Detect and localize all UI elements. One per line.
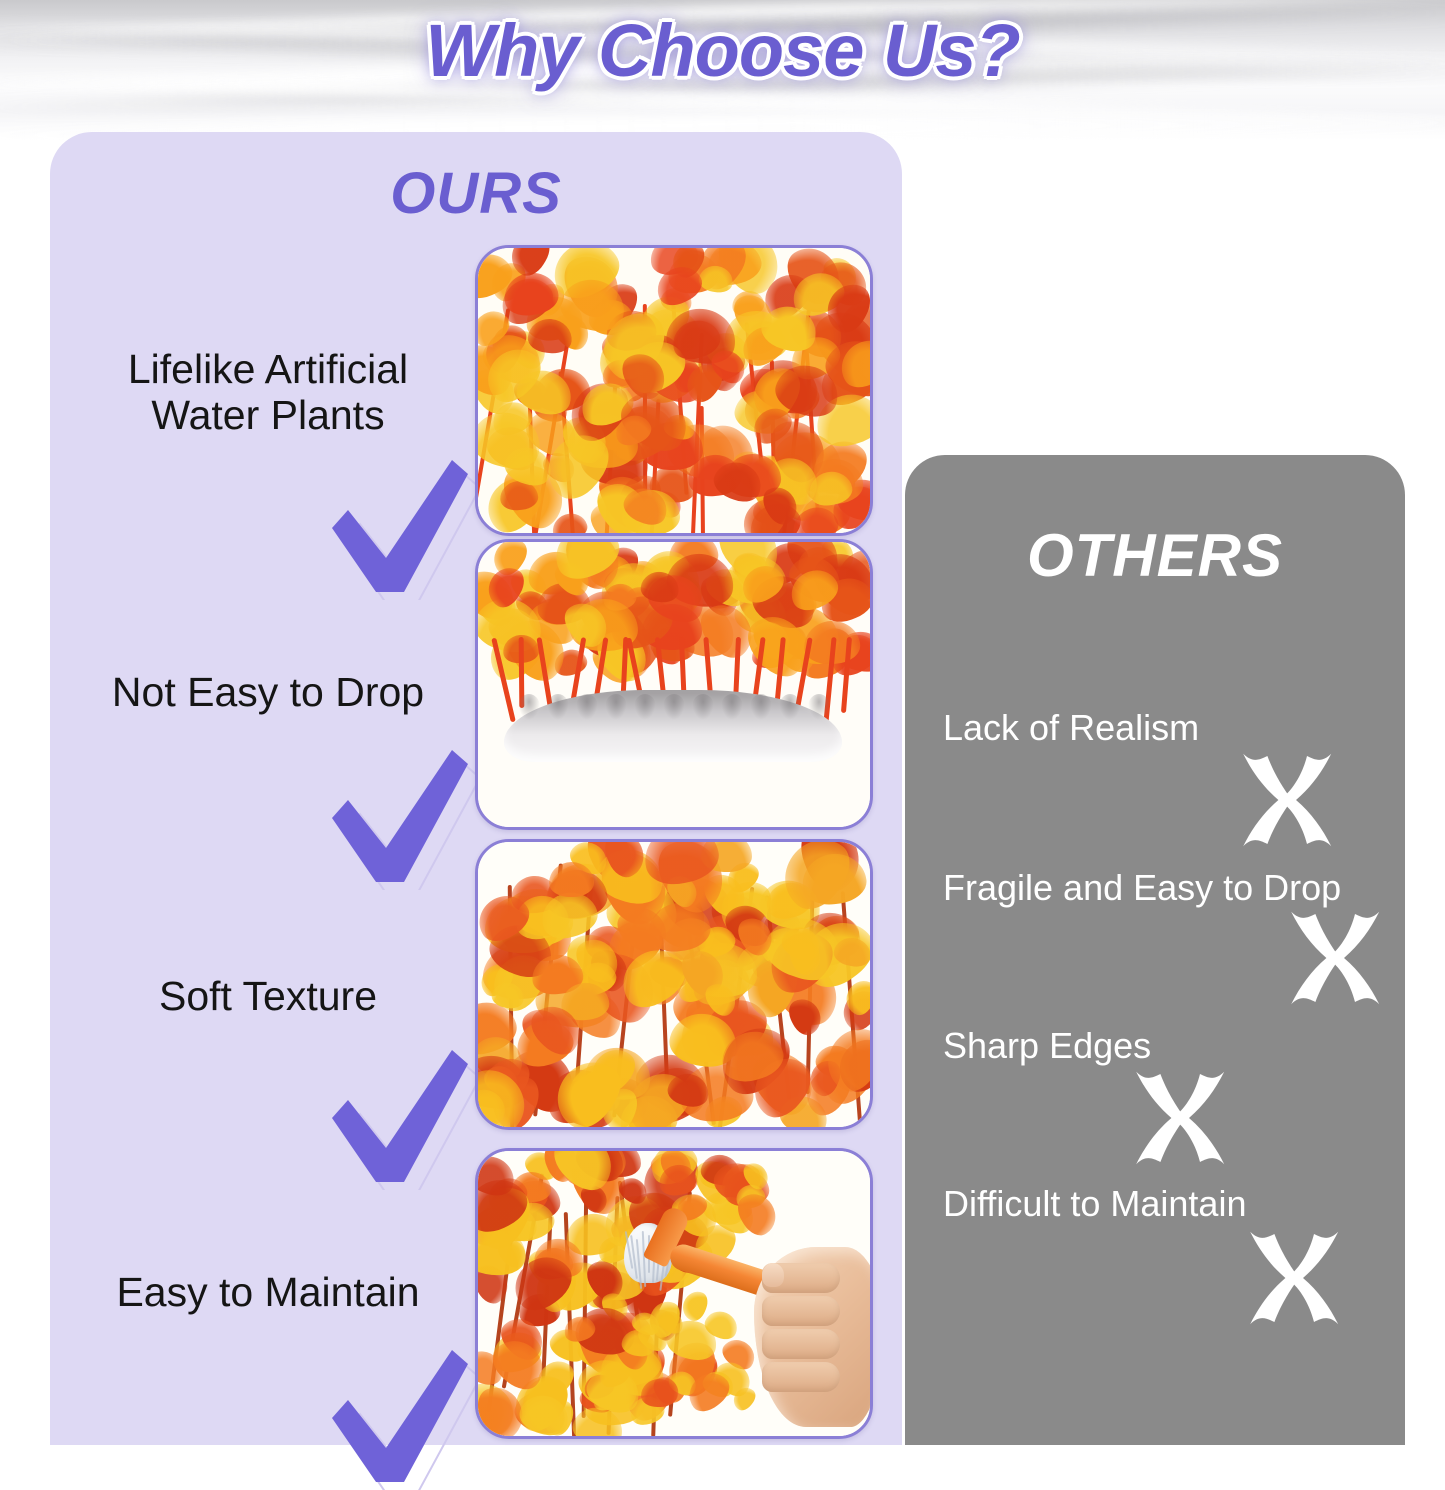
page-title: Why Choose Us? (0, 8, 1445, 93)
plant-base-ridge (663, 694, 685, 720)
others-panel: OTHERS Lack of Realism Fragile and Easy … (905, 455, 1405, 1445)
others-item-label: Difficult to Maintain (943, 1183, 1246, 1225)
ours-item-label: Soft Texture (68, 974, 468, 1020)
ours-item-photo (475, 1148, 873, 1439)
plant-leaf (548, 862, 593, 897)
check-icon (312, 1340, 482, 1490)
finger (762, 1296, 840, 1326)
ours-item-label: Lifelike Artificial Water Plants (68, 347, 468, 439)
ours-item-label-line: Not Easy to Drop (68, 670, 468, 716)
plant-base-ridge (605, 694, 627, 720)
plant-base-ridge (547, 694, 569, 720)
ours-item-photo (475, 539, 873, 830)
plant-base-ridge (576, 694, 598, 720)
ours-item-label: Not Easy to Drop (68, 670, 468, 716)
plant-base-ridge (721, 694, 743, 720)
ours-heading: OURS (50, 160, 902, 227)
check-icon (312, 740, 482, 890)
ours-item-photo (475, 839, 873, 1130)
ours-item-label-line: Easy to Maintain (68, 1270, 468, 1316)
plant-base-ridge (779, 694, 801, 720)
plant-base-ridge (692, 694, 714, 720)
cross-icon (1237, 1223, 1347, 1333)
finger (762, 1329, 840, 1359)
cross-icon (1230, 745, 1340, 855)
others-item-label: Lack of Realism (943, 707, 1199, 749)
finger (762, 1362, 840, 1392)
others-item-label: Sharp Edges (943, 1025, 1151, 1067)
ours-panel: OURS Lifelike Artificial Water Plants No… (50, 132, 902, 1445)
cross-icon (1278, 903, 1388, 1013)
fingernail (762, 1263, 784, 1287)
ours-item-label-line: Lifelike Artificial (68, 347, 468, 393)
ours-item-label-line: Water Plants (68, 393, 468, 439)
others-heading: OTHERS (905, 521, 1405, 590)
plant-base-ridge (634, 694, 656, 720)
plant-base-ridge (518, 694, 540, 720)
ours-item-label: Easy to Maintain (68, 1270, 468, 1316)
check-icon (312, 450, 482, 600)
ours-item-photo (475, 245, 873, 536)
check-icon (312, 1040, 482, 1190)
plant-base-ridge (750, 694, 772, 720)
cross-icon (1123, 1063, 1233, 1173)
ours-item-label-line: Soft Texture (68, 974, 468, 1020)
plant-base-ridge (808, 694, 830, 720)
